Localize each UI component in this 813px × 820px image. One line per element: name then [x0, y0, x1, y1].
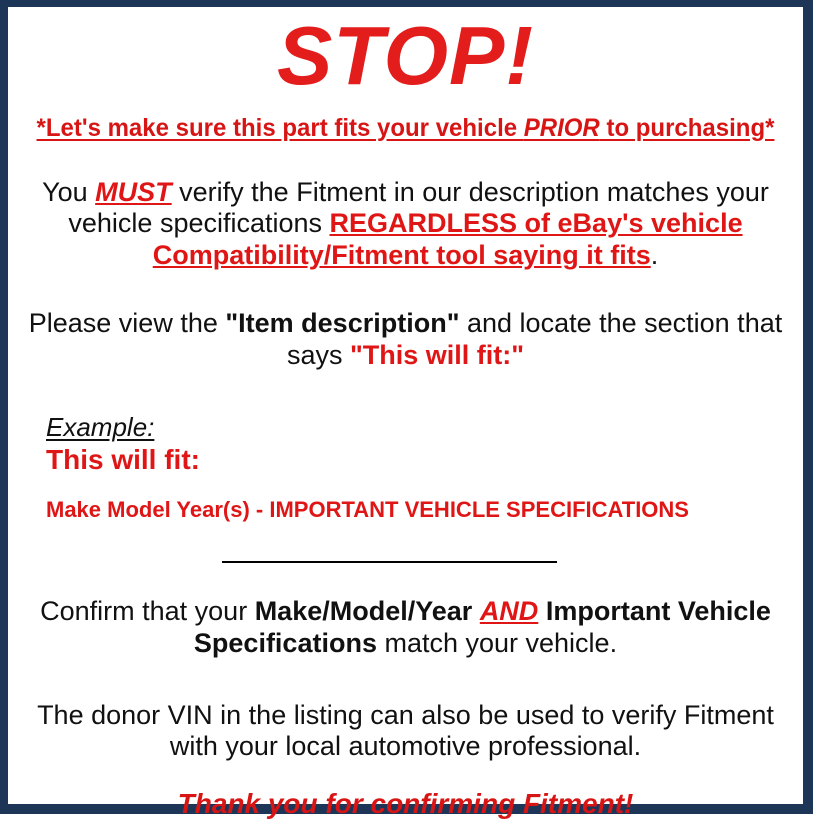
- thank-you-line: Thank you for confirming Fitment!: [8, 763, 803, 820]
- and-emphasis: AND: [480, 596, 539, 626]
- confirm-space-b: [538, 596, 546, 626]
- tagline: *Let's make sure this part fits your veh…: [24, 96, 787, 143]
- example-label-row: Example:: [46, 412, 803, 443]
- horizontal-rule: [222, 561, 557, 563]
- tagline-before: *Let's make sure this part fits your veh…: [37, 114, 524, 142]
- confirm-text-part1: Confirm that your: [40, 596, 255, 626]
- fitment-notice-frame: STOP! *Let's make sure this part fits yo…: [0, 0, 813, 814]
- must-emphasis: MUST: [95, 177, 172, 207]
- stop-heading: STOP!: [8, 7, 803, 96]
- example-fit-heading: This will fit:: [46, 443, 803, 476]
- must-text-part1: You: [42, 177, 95, 207]
- example-block: Example: This will fit: Make Model Year(…: [8, 372, 803, 522]
- paragraph-must-verify: You MUST verify the Fitment in our descr…: [26, 143, 786, 273]
- paragraph-donor-vin: The donor VIN in the listing can also be…: [26, 660, 786, 764]
- this-will-fit-emphasis: "This will fit:": [350, 340, 524, 370]
- make-model-year-emphasis: Make/Model/Year: [255, 596, 473, 626]
- confirm-space-a: [472, 596, 480, 626]
- tagline-after: to purchasing*: [600, 114, 775, 142]
- example-label: Example:: [46, 412, 154, 443]
- paragraph-item-description: Please view the "Item description" and l…: [26, 272, 786, 372]
- tagline-prior-emphasis: PRIOR: [524, 114, 600, 142]
- example-spec-line: Make Model Year(s) - IMPORTANT VEHICLE S…: [46, 476, 803, 522]
- item-description-emphasis: "Item description": [225, 308, 459, 338]
- confirm-text-part2: match your vehicle.: [377, 628, 617, 658]
- must-text-part3: .: [651, 240, 659, 270]
- fitment-notice-content: STOP! *Let's make sure this part fits yo…: [8, 7, 803, 804]
- divider-wrap: [8, 522, 803, 568]
- view-text-part1: Please view the: [29, 308, 226, 338]
- paragraph-confirm: Confirm that your Make/Model/Year AND Im…: [26, 568, 786, 660]
